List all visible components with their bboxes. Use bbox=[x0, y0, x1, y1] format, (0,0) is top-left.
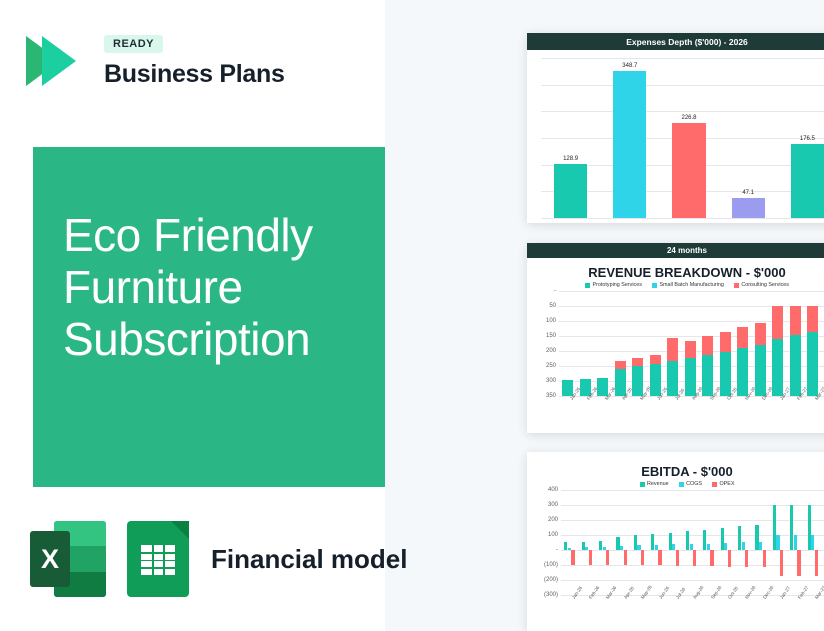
bar bbox=[791, 144, 824, 218]
hero-panel: Eco Friendly Furniture Subscription bbox=[33, 147, 385, 487]
y-axis-tick-label: - bbox=[556, 547, 558, 553]
legend-item: Revenue bbox=[640, 481, 669, 487]
gridline bbox=[541, 218, 824, 219]
ready-badge: READY bbox=[104, 35, 163, 53]
legend-swatch bbox=[734, 283, 739, 288]
format-icons-row: X Financial model bbox=[30, 521, 408, 597]
bar-segment bbox=[720, 352, 731, 396]
x-axis-tick-label: Aug-26 bbox=[692, 585, 705, 600]
card-revenue-header: 24 months bbox=[527, 243, 824, 258]
legend-swatch bbox=[712, 482, 717, 487]
gridline bbox=[541, 85, 824, 86]
bar-segment bbox=[658, 550, 661, 565]
gridline bbox=[561, 580, 824, 581]
bar-segment bbox=[615, 361, 626, 369]
y-axis-tick-label: 300 bbox=[548, 502, 558, 508]
legend-label: COGS bbox=[686, 481, 702, 487]
bar-segment bbox=[797, 550, 800, 576]
bar bbox=[732, 198, 765, 218]
page-title: Eco Friendly Furniture Subscription bbox=[33, 147, 385, 366]
y-axis-tick-label: (100) bbox=[544, 562, 558, 568]
bar-segment bbox=[707, 544, 710, 551]
bar-segment bbox=[780, 550, 783, 576]
x-axis-tick-label: Oct-26 bbox=[727, 586, 739, 600]
y-axis-tick-label: 200 bbox=[548, 517, 558, 523]
bar-segment bbox=[794, 535, 797, 550]
y-axis-tick-label: 50 bbox=[549, 303, 556, 309]
x-axis-tick-label: Nov-26 bbox=[744, 585, 757, 600]
legend-swatch bbox=[679, 482, 684, 487]
y-axis-tick-label: (300) bbox=[544, 592, 558, 598]
excel-letter: X bbox=[30, 531, 70, 587]
bar-segment bbox=[790, 335, 801, 397]
y-axis-tick-label: 100 bbox=[546, 318, 556, 324]
card-revenue-title: REVENUE BREAKDOWN - $'000 bbox=[527, 258, 824, 282]
y-axis-tick-label: 350 bbox=[546, 393, 556, 399]
y-axis-tick-label: 250 bbox=[546, 363, 556, 369]
brand-logo: READY Business Plans bbox=[26, 30, 285, 92]
gridline bbox=[559, 336, 824, 337]
x-axis-tick-label: Feb-26 bbox=[588, 585, 600, 600]
bar-segment bbox=[772, 339, 783, 396]
legend-item: Prototyping Services bbox=[585, 282, 642, 288]
legend-swatch bbox=[585, 283, 590, 288]
bar-segment bbox=[685, 358, 696, 396]
bar-segment bbox=[724, 543, 727, 551]
x-axis-tick-label: Dec-26 bbox=[762, 585, 775, 600]
x-axis-tick-label: May-26 bbox=[640, 585, 653, 600]
legend-label: Prototyping Services bbox=[593, 282, 642, 288]
bar-segment bbox=[728, 550, 731, 567]
bar-value-label: 47.1 bbox=[728, 190, 768, 196]
bar-segment bbox=[737, 348, 748, 396]
card-ebitda-title: EBITDA - $'000 bbox=[527, 452, 824, 481]
bar-segment bbox=[815, 550, 818, 576]
y-axis-tick-label: 400 bbox=[548, 487, 558, 493]
bar-segment bbox=[745, 550, 748, 567]
legend-swatch bbox=[652, 283, 657, 288]
bar-segment bbox=[742, 542, 745, 550]
legend-label: Consulting Services bbox=[741, 282, 789, 288]
bar-segment bbox=[571, 550, 574, 564]
bar bbox=[672, 123, 705, 218]
x-axis-tick-label: Jan-26 bbox=[571, 586, 583, 600]
legend-swatch bbox=[640, 482, 645, 487]
x-axis-tick-label: Apr-26 bbox=[623, 586, 635, 600]
y-axis-tick-label: 100 bbox=[548, 532, 558, 538]
bar-segment bbox=[772, 306, 783, 340]
bar-segment bbox=[650, 355, 661, 364]
bar-segment bbox=[606, 550, 609, 564]
y-axis-tick-label: - bbox=[554, 288, 556, 294]
bar-segment bbox=[702, 355, 713, 396]
bar-segment bbox=[667, 361, 678, 396]
x-axis-tick-label: Mar-27 bbox=[814, 585, 824, 600]
bar bbox=[554, 164, 587, 218]
legend-label: Small Batch Manufacturing bbox=[659, 282, 723, 288]
gridline bbox=[559, 291, 824, 292]
bar-segment bbox=[807, 306, 818, 332]
bar-segment bbox=[790, 306, 801, 335]
microsoft-excel-icon: X bbox=[30, 521, 106, 597]
bar-value-label: 226.8 bbox=[669, 115, 709, 121]
legend-label: OPEX bbox=[719, 481, 734, 487]
bar-segment bbox=[763, 550, 766, 567]
bar-segment bbox=[710, 550, 713, 566]
gridline bbox=[541, 111, 824, 112]
y-axis-tick-label: 200 bbox=[546, 348, 556, 354]
card-expenses-header: Expenses Depth ($'000) - 2026 bbox=[527, 33, 824, 50]
x-axis-tick-label: Jun-26 bbox=[658, 586, 670, 600]
bar-segment bbox=[632, 358, 643, 366]
x-axis-tick-label: Feb-27 bbox=[797, 585, 809, 600]
bar-value-label: 348.7 bbox=[610, 63, 650, 69]
bar-segment bbox=[807, 332, 818, 397]
bar-value-label: 176.5 bbox=[787, 136, 824, 142]
bar-segment bbox=[676, 550, 679, 566]
bar-segment bbox=[589, 550, 592, 564]
bar-segment bbox=[811, 535, 814, 550]
bar-segment bbox=[755, 345, 766, 396]
bar-value-label: 128.9 bbox=[551, 156, 591, 162]
bar bbox=[613, 71, 646, 218]
legend-item: Consulting Services bbox=[734, 282, 789, 288]
gridline bbox=[561, 535, 824, 536]
revenue-bar-chart: -50100150200250300350Jan-26Feb-26Mar-26A… bbox=[559, 291, 824, 396]
bar-segment bbox=[737, 327, 748, 348]
bar-segment bbox=[693, 550, 696, 566]
gridline bbox=[541, 58, 824, 59]
bar-segment bbox=[632, 366, 643, 396]
x-axis-tick-label: Jan-27 bbox=[779, 586, 791, 600]
bar-segment bbox=[641, 550, 644, 565]
bar-segment bbox=[755, 323, 766, 345]
legend-item: COGS bbox=[679, 481, 702, 487]
legend-item: OPEX bbox=[712, 481, 734, 487]
google-sheets-icon bbox=[127, 521, 189, 597]
gridline bbox=[561, 520, 824, 521]
y-axis-tick-label: 300 bbox=[546, 378, 556, 384]
bar-segment bbox=[720, 332, 731, 352]
bar-segment bbox=[685, 341, 696, 358]
gridline bbox=[561, 505, 824, 506]
card-expenses-depth[interactable]: Expenses Depth ($'000) - 2026 128.9348.7… bbox=[527, 33, 824, 223]
card-ebitda[interactable]: EBITDA - $'000 RevenueCOGSOPEX 400300200… bbox=[527, 452, 824, 631]
bar-segment bbox=[624, 550, 627, 565]
x-axis-tick-label: Jul-26 bbox=[675, 587, 686, 600]
legend-label: Revenue bbox=[647, 481, 669, 487]
y-axis-tick-label: 150 bbox=[546, 333, 556, 339]
revenue-legend: Prototyping ServicesSmall Batch Manufact… bbox=[527, 282, 824, 291]
play-triangle-logo-icon bbox=[26, 30, 88, 92]
gridline bbox=[561, 490, 824, 491]
x-axis-tick-label: Sep-26 bbox=[710, 585, 723, 600]
bar-segment bbox=[759, 542, 762, 551]
gridline bbox=[559, 306, 824, 307]
expenses-bar-chart: 128.9348.7226.847.1176.5 bbox=[541, 58, 824, 218]
brand-name: Business Plans bbox=[104, 60, 285, 89]
ebitda-bar-chart: 400300200100-(100)(200)(300)Jan-26Feb-26… bbox=[561, 490, 824, 595]
bar-segment bbox=[776, 535, 779, 550]
legend-item: Small Batch Manufacturing bbox=[652, 282, 724, 288]
y-axis-tick-label: (200) bbox=[544, 577, 558, 583]
x-axis-tick-label: Mar-26 bbox=[605, 585, 617, 600]
gridline bbox=[559, 321, 824, 322]
card-revenue-breakdown[interactable]: 24 months REVENUE BREAKDOWN - $'000 Prot… bbox=[527, 243, 824, 433]
bar-segment bbox=[702, 336, 713, 355]
bar-segment bbox=[667, 338, 678, 361]
financial-model-label: Financial model bbox=[211, 544, 408, 575]
ebitda-legend: RevenueCOGSOPEX bbox=[527, 481, 824, 490]
